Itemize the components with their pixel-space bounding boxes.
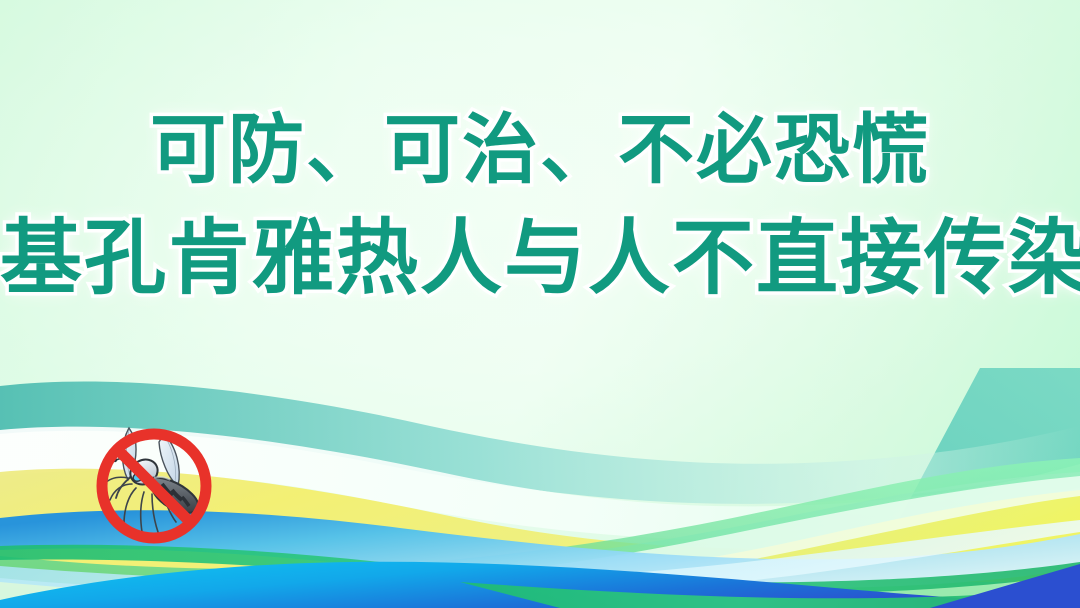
poster-canvas: 可防、可治、不必恐慌 基孔肯雅热人与人不直接传染: [0, 0, 1080, 608]
no-mosquito-icon: [88, 420, 220, 552]
prohibition-sign: [102, 434, 206, 538]
